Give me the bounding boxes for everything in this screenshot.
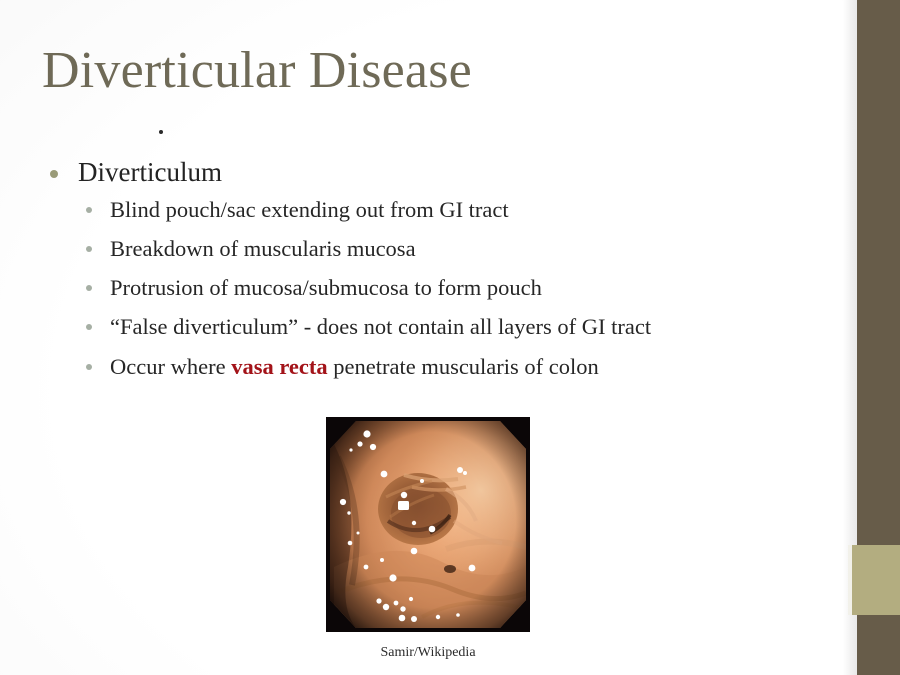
sidebar-band-dark-top — [857, 0, 900, 545]
sub-bullet-dot-icon — [86, 207, 92, 213]
bullet-level2-vasa-recta: Occur where vasa recta penetrate muscula… — [44, 354, 814, 379]
decorative-sidebar — [843, 0, 900, 675]
sub-bullet-dot-icon — [86, 285, 92, 291]
bullet-level2-label: Protrusion of mucosa/submucosa to form p… — [110, 275, 542, 300]
highlighted-term: vasa recta — [231, 354, 327, 379]
bullet-dot-icon — [50, 170, 58, 178]
bullet-level1-label: Diverticulum — [78, 157, 222, 187]
bullet-level2: Protrusion of mucosa/submucosa to form p… — [44, 275, 814, 300]
slide: Diverticular Disease Diverticulum Blind … — [0, 0, 900, 675]
bullet-level2-prefix: Occur where — [110, 354, 231, 379]
bullet-level2: Breakdown of muscularis mucosa — [44, 236, 814, 261]
figure-caption: Samir/Wikipedia — [326, 645, 530, 661]
slide-title: Diverticular Disease — [42, 44, 472, 99]
bullet-list: Diverticulum Blind pouch/sac extending o… — [44, 157, 814, 379]
sidebar-band-light — [852, 545, 900, 615]
sidebar-band-dark-bottom — [857, 615, 900, 675]
endoscopy-image — [326, 417, 530, 632]
sub-bullet-dot-icon — [86, 246, 92, 252]
bullet-level2-label: Breakdown of muscularis mucosa — [110, 236, 416, 261]
bullet-level2: Blind pouch/sac extending out from GI tr… — [44, 197, 814, 222]
bullet-level2: “False diverticulum” - does not contain … — [44, 314, 814, 339]
bullet-level1: Diverticulum — [44, 157, 814, 189]
stray-dot-marker — [159, 130, 163, 134]
sub-bullet-list: Blind pouch/sac extending out from GI tr… — [44, 197, 814, 379]
bullet-level2-label: “False diverticulum” - does not contain … — [110, 314, 651, 339]
endoscopy-figure — [326, 417, 530, 632]
bullet-level2-label: Blind pouch/sac extending out from GI tr… — [110, 197, 509, 222]
sub-bullet-dot-icon — [86, 364, 92, 370]
bullet-level2-suffix: penetrate muscularis of colon — [328, 354, 599, 379]
sub-bullet-dot-icon — [86, 324, 92, 330]
